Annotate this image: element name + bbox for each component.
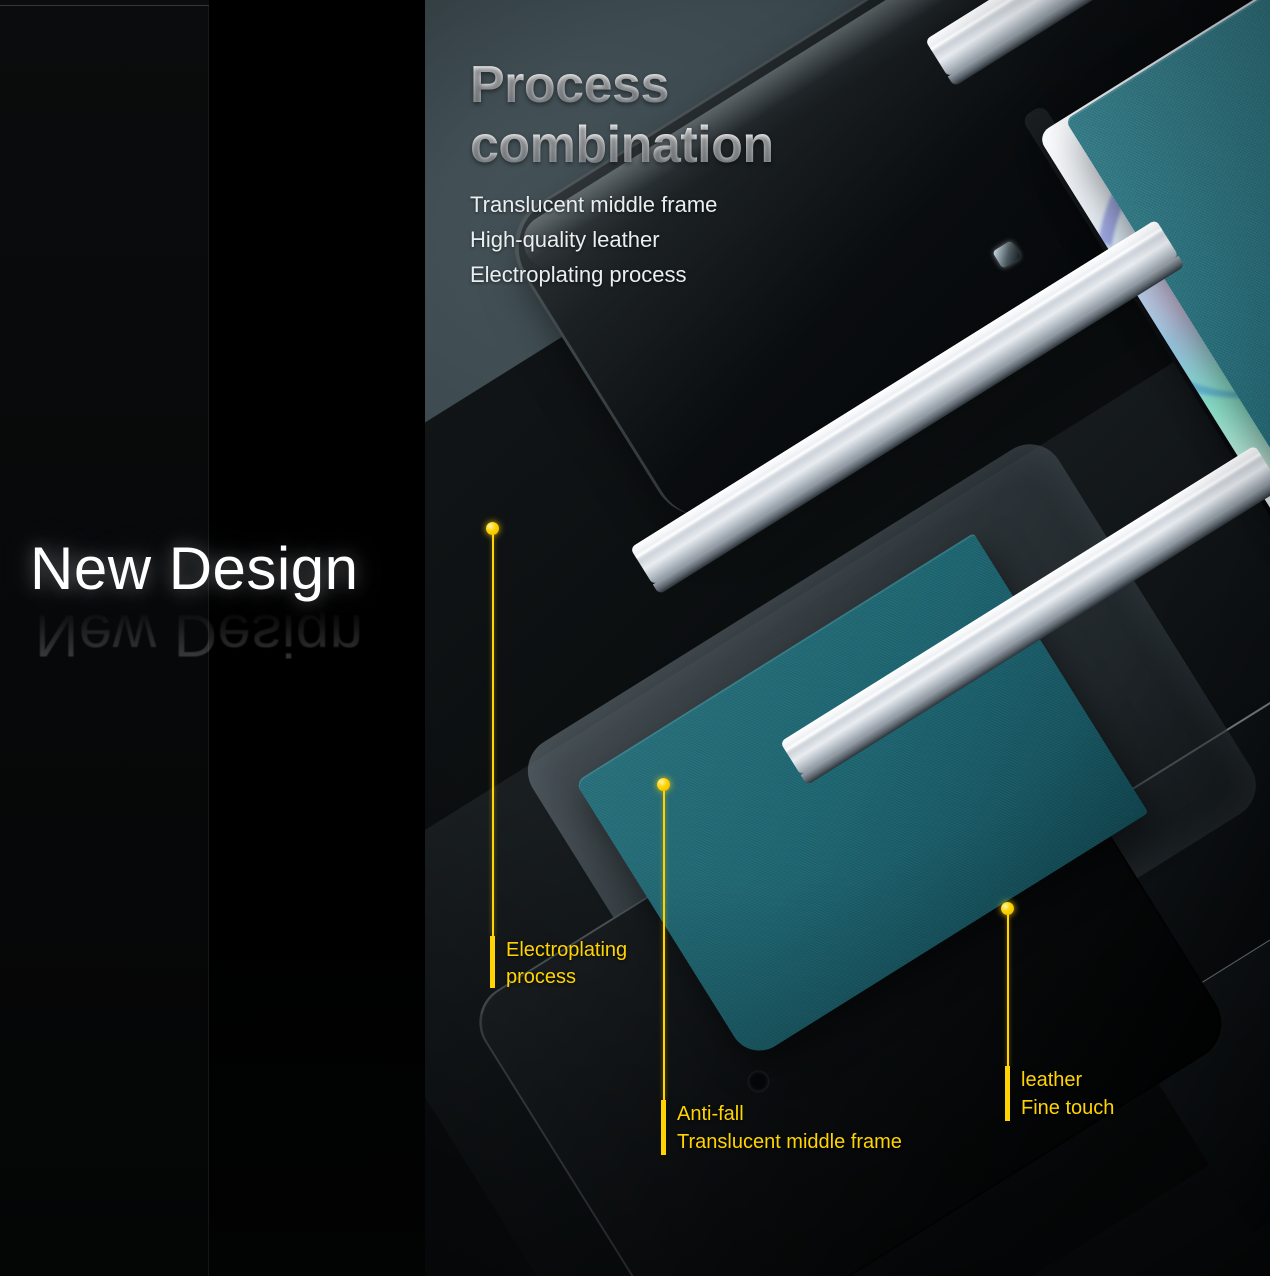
feature-item-1: Translucent middle frame <box>470 187 930 222</box>
brand-wordmark-text: New Design <box>30 537 410 601</box>
callout-label-anti-fall-line1: Anti-fall <box>677 1101 744 1128</box>
callout-tick-anti-fall <box>661 1100 666 1155</box>
callout-label-leather-line2: Fine touch <box>1021 1095 1114 1122</box>
feature-item-3: Electroplating process <box>470 257 930 292</box>
callout-label-leather-line1: leather <box>1021 1067 1082 1094</box>
headline-block: Process combination Translucent middle f… <box>470 55 930 292</box>
feature-item-2: High-quality leather <box>470 222 930 257</box>
callout-tick-leather <box>1005 1066 1010 1121</box>
product-photo: NEW DESIGN Process combination Transluce… <box>425 0 1270 1276</box>
feature-list: Translucent middle frame High-quality le… <box>470 187 930 292</box>
brand-wordmark-reflection: New Design <box>35 603 363 667</box>
product-banner: New Design New Design <box>0 0 1270 1276</box>
headline-line-1: Process <box>470 55 930 115</box>
callout-label-electroplating-line2: process <box>506 964 576 991</box>
callout-dot-electroplating <box>486 522 499 535</box>
callout-line-electroplating <box>492 534 494 936</box>
headline-line-2: combination <box>470 115 930 175</box>
callout-line-leather <box>1007 914 1009 1066</box>
brand-wordmark: New Design New Design <box>30 537 410 677</box>
callout-dot-anti-fall <box>657 778 670 791</box>
callout-tick-electroplating <box>490 936 495 988</box>
callout-label-anti-fall-line2: Translucent middle frame <box>677 1129 902 1156</box>
callout-label-electroplating-line1: Electroplating <box>506 937 627 964</box>
callout-dot-leather <box>1001 902 1014 915</box>
callout-line-anti-fall <box>663 790 665 1100</box>
